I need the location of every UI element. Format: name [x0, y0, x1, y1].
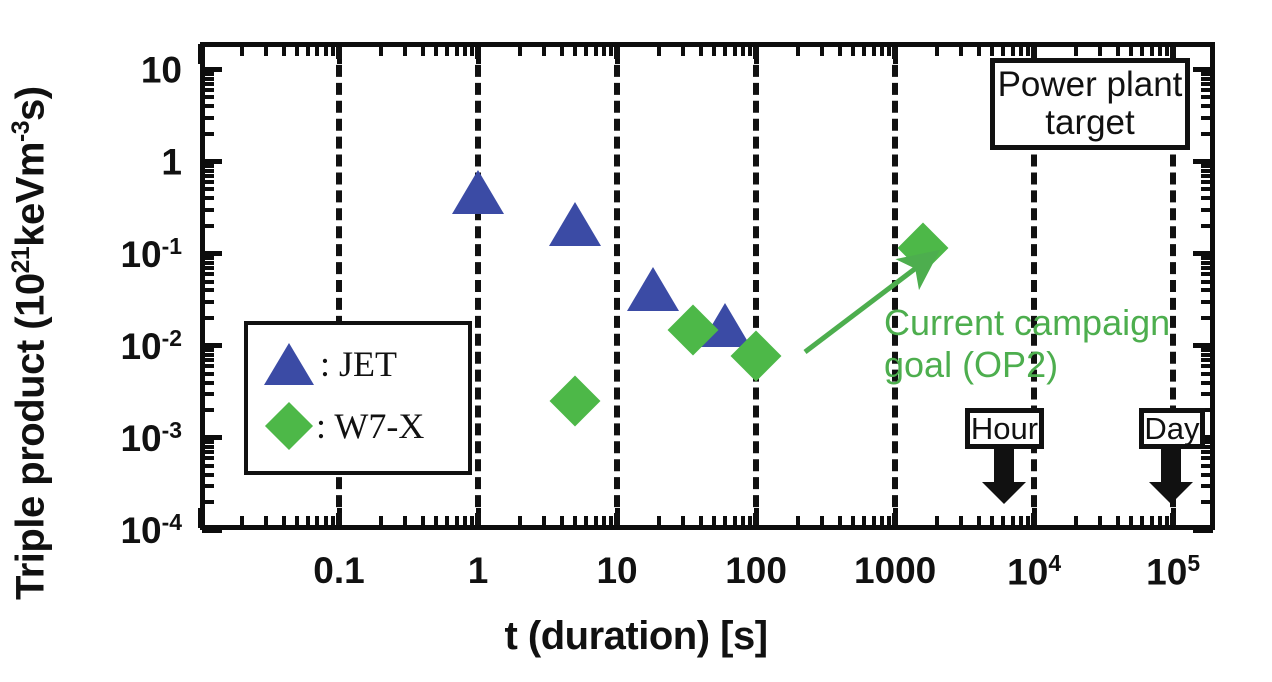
x-tick-base: 100: [725, 550, 787, 591]
x-minor-tick-top: [518, 44, 522, 56]
x-minor-tick-bottom: [560, 516, 564, 528]
x-minor-tick-bottom: [796, 516, 800, 528]
x-tick-base: 10: [1146, 551, 1187, 592]
y-minor-tick-left: [202, 272, 214, 276]
x-minor-tick-bottom: [1074, 516, 1078, 528]
x-minor-tick-bottom: [240, 516, 244, 528]
x-minor-tick-bottom: [1098, 516, 1102, 528]
x-minor-tick-top: [723, 44, 727, 56]
x-minor-tick-bottom: [862, 516, 866, 528]
y-minor-tick-left: [202, 104, 214, 108]
x-minor-tick-bottom: [1116, 516, 1120, 528]
y-minor-tick-left: [202, 484, 214, 488]
y-minor-tick-right: [1201, 473, 1213, 477]
y-minor-tick-left: [202, 164, 214, 168]
y-minor-tick-left: [202, 261, 214, 265]
x-minor-tick-bottom: [887, 516, 891, 528]
legend-entry-w7x: : W7-X: [264, 405, 424, 447]
x-minor-tick-bottom: [455, 516, 459, 528]
x-minor-tick-top: [542, 44, 546, 56]
legend-label-w7x: : W7-X: [316, 405, 424, 447]
y-minor-tick-left: [202, 372, 214, 376]
x-minor-tick-bottom: [699, 516, 703, 528]
y-tick-exponent: -3: [162, 417, 182, 443]
x-minor-tick-top: [315, 44, 319, 56]
y-minor-tick-left: [202, 280, 214, 284]
y-tick-base: 10: [120, 418, 161, 459]
y-tick-exponent: -2: [162, 325, 182, 351]
x-minor-tick-bottom: [463, 516, 467, 528]
y-minor-tick-right: [1201, 88, 1213, 92]
jet-marker-2: [627, 267, 679, 311]
x-minor-tick-bottom: [657, 516, 661, 528]
y-minor-tick-left: [202, 266, 214, 270]
y-tick-label-0: 10: [0, 51, 190, 88]
power-plant-target-line2: target: [1045, 104, 1135, 142]
y-tick-labels: 10110-110-210-310-4: [0, 0, 190, 682]
x-minor-tick-top: [264, 44, 268, 56]
x-minor-tick-bottom: [282, 516, 286, 528]
x-minor-tick-bottom: [741, 516, 745, 528]
y-major-tick-left: [202, 343, 222, 348]
y-minor-tick-right: [1201, 300, 1213, 304]
x-minor-tick-bottom: [712, 516, 716, 528]
y-major-tick-left: [202, 528, 222, 533]
x-minor-tick-top: [455, 44, 459, 56]
x-tick-base: 0.1: [313, 550, 364, 591]
y-tick-label-1: 1: [0, 143, 190, 180]
y-minor-tick-left: [202, 132, 214, 136]
x-tick-label-2: 10: [596, 552, 637, 589]
campaign-goal-line2: goal (OP2): [884, 344, 1170, 386]
y-major-tick-right: [1193, 67, 1213, 72]
x-minor-tick-top: [862, 44, 866, 56]
y-tick-base: 10: [120, 326, 161, 367]
x-minor-tick-bottom: [306, 516, 310, 528]
x-minor-tick-bottom: [1001, 516, 1005, 528]
x-minor-tick-top: [990, 44, 994, 56]
x-minor-tick-top: [1150, 44, 1154, 56]
y-minor-tick-left: [202, 392, 214, 396]
x-minor-tick-bottom: [403, 516, 407, 528]
campaign-goal-text: Current campaign goal (OP2): [884, 302, 1170, 386]
y-minor-tick-right: [1201, 224, 1213, 228]
x-minor-tick-top: [733, 44, 737, 56]
x-minor-tick-bottom: [959, 516, 963, 528]
y-minor-tick-left: [202, 169, 214, 173]
y-minor-tick-right: [1201, 104, 1213, 108]
jet-marker-0: [452, 170, 504, 214]
x-tick-exponent: 4: [1048, 550, 1061, 576]
y-minor-tick-right: [1201, 484, 1213, 488]
y-major-tick-right: [1193, 528, 1213, 533]
x-minor-tick-top: [609, 44, 613, 56]
y-minor-tick-left: [202, 353, 214, 357]
y-minor-tick-right: [1201, 164, 1213, 168]
y-minor-tick-right: [1201, 280, 1213, 284]
x-minor-tick-top: [796, 44, 800, 56]
x-minor-tick-bottom: [331, 516, 335, 528]
hour-box-label: Hour: [971, 412, 1038, 445]
x-minor-tick-bottom: [434, 516, 438, 528]
x-minor-tick-top: [935, 44, 939, 56]
y-tick-base: 10: [141, 49, 182, 90]
y-minor-tick-right: [1201, 82, 1213, 86]
x-minor-tick-bottom: [1158, 516, 1162, 528]
x-tick-base: 10: [596, 550, 637, 591]
x-minor-tick-bottom: [315, 516, 319, 528]
y-minor-tick-left: [202, 256, 214, 260]
y-minor-tick-left: [202, 456, 214, 460]
x-minor-tick-top: [594, 44, 598, 56]
x-minor-tick-top: [1140, 44, 1144, 56]
y-minor-tick-right: [1201, 187, 1213, 191]
y-minor-tick-right: [1201, 208, 1213, 212]
y-minor-tick-left: [202, 95, 214, 99]
x-minor-tick-bottom: [594, 516, 598, 528]
x-minor-tick-top: [741, 44, 745, 56]
y-major-tick-left: [202, 435, 222, 440]
y-minor-tick-right: [1201, 77, 1213, 81]
x-minor-tick-bottom: [295, 516, 299, 528]
y-tick-base: 1: [161, 141, 182, 182]
hour-box: Hour: [965, 408, 1044, 449]
x-minor-tick-top: [872, 44, 876, 56]
x-minor-tick-top: [1074, 44, 1078, 56]
x-minor-tick-top: [820, 44, 824, 56]
y-tick-base: 10: [120, 234, 161, 275]
x-tick-label-6: 105: [1146, 552, 1200, 590]
y-tick-base: 10: [120, 510, 161, 551]
y-minor-tick-left: [202, 224, 214, 228]
y-minor-tick-right: [1201, 456, 1213, 460]
y-minor-tick-left: [202, 174, 214, 178]
y-minor-tick-right: [1201, 464, 1213, 468]
x-minor-tick-top: [1001, 44, 1005, 56]
x-minor-tick-top: [880, 44, 884, 56]
x-minor-tick-bottom: [820, 516, 824, 528]
y-minor-tick-left: [202, 187, 214, 191]
x-minor-tick-top: [445, 44, 449, 56]
x-minor-tick-top: [657, 44, 661, 56]
y-minor-tick-left: [202, 440, 214, 444]
x-minor-tick-bottom: [880, 516, 884, 528]
x-tick-base: 10: [1007, 551, 1048, 592]
x-tick-label-5: 104: [1007, 552, 1061, 590]
y-minor-tick-left: [202, 180, 214, 184]
x-minor-tick-bottom: [723, 516, 727, 528]
x-tick-label-0: 0.1: [313, 552, 364, 589]
x-minor-tick-top: [887, 44, 891, 56]
y-minor-tick-right: [1201, 288, 1213, 292]
y-minor-tick-left: [202, 348, 214, 352]
y-minor-tick-left: [202, 450, 214, 454]
y-minor-tick-right: [1201, 316, 1213, 320]
x-minor-tick-top: [1158, 44, 1162, 56]
y-minor-tick-right: [1201, 132, 1213, 136]
x-minor-tick-bottom: [609, 516, 613, 528]
x-minor-tick-top: [699, 44, 703, 56]
y-minor-tick-left: [202, 408, 214, 412]
x-minor-tick-bottom: [851, 516, 855, 528]
x-minor-tick-bottom: [1019, 516, 1023, 528]
x-minor-tick-top: [421, 44, 425, 56]
y-minor-tick-right: [1201, 272, 1213, 276]
y-tick-exponent: -4: [162, 509, 182, 535]
y-minor-tick-right: [1201, 372, 1213, 376]
chart-root: Triple product (1021keVm-3s) t (duration…: [0, 0, 1272, 682]
x-minor-tick-top: [1098, 44, 1102, 56]
y-major-tick-left: [202, 159, 222, 164]
x-minor-tick-bottom: [518, 516, 522, 528]
y-minor-tick-left: [202, 196, 214, 200]
x-minor-tick-bottom: [1011, 516, 1015, 528]
x-minor-tick-top: [379, 44, 383, 56]
x-minor-tick-top: [959, 44, 963, 56]
gridline-decade-2: [614, 47, 620, 525]
y-minor-tick-right: [1201, 196, 1213, 200]
y-minor-tick-right: [1201, 95, 1213, 99]
y-major-tick-right: [1193, 159, 1213, 164]
y-minor-tick-right: [1201, 180, 1213, 184]
x-minor-tick-top: [324, 44, 328, 56]
x-minor-tick-top: [838, 44, 842, 56]
y-minor-tick-right: [1201, 381, 1213, 385]
y-tick-label-3: 10-2: [0, 327, 190, 365]
x-minor-tick-top: [403, 44, 407, 56]
x-minor-tick-bottom: [977, 516, 981, 528]
x-minor-tick-top: [434, 44, 438, 56]
x-minor-tick-top: [748, 44, 752, 56]
legend: : JET : W7-X: [244, 321, 472, 475]
x-minor-tick-top: [584, 44, 588, 56]
x-minor-tick-bottom: [935, 516, 939, 528]
x-minor-tick-top: [977, 44, 981, 56]
y-major-tick-right: [1193, 251, 1213, 256]
x-minor-tick-bottom: [264, 516, 268, 528]
x-major-tick-bottom: [198, 508, 203, 528]
y-minor-tick-left: [202, 381, 214, 385]
y-minor-tick-right: [1201, 450, 1213, 454]
y-major-tick-left: [202, 251, 222, 256]
x-tick-label-4: 1000: [854, 552, 936, 589]
x-minor-tick-top: [1165, 44, 1169, 56]
x-minor-tick-bottom: [573, 516, 577, 528]
x-minor-tick-bottom: [470, 516, 474, 528]
y-minor-tick-right: [1201, 266, 1213, 270]
y-minor-tick-right: [1201, 116, 1213, 120]
y-minor-tick-left: [202, 82, 214, 86]
x-minor-tick-bottom: [1140, 516, 1144, 528]
gridline-decade-1: [475, 47, 481, 525]
legend-entry-jet: : JET: [264, 343, 397, 385]
x-minor-tick-top: [306, 44, 310, 56]
y-minor-tick-left: [202, 364, 214, 368]
x-minor-tick-top: [1129, 44, 1133, 56]
y-minor-tick-right: [1201, 364, 1213, 368]
x-major-tick-top: [198, 44, 203, 64]
x-minor-tick-bottom: [1150, 516, 1154, 528]
x-tick-label-3: 100: [725, 552, 787, 589]
y-minor-tick-left: [202, 473, 214, 477]
legend-label-jet: : JET: [320, 343, 397, 385]
x-minor-tick-bottom: [1165, 516, 1169, 528]
y-tick-label-4: 10-3: [0, 419, 190, 457]
y-major-tick-right: [1193, 343, 1213, 348]
x-minor-tick-top: [1019, 44, 1023, 56]
x-minor-tick-bottom: [990, 516, 994, 528]
x-minor-tick-bottom: [542, 516, 546, 528]
x-minor-tick-bottom: [872, 516, 876, 528]
x-minor-tick-top: [331, 44, 335, 56]
y-minor-tick-right: [1201, 256, 1213, 260]
x-axis-title: t (duration) [s]: [0, 614, 1272, 659]
x-minor-tick-top: [240, 44, 244, 56]
day-box: Day: [1139, 408, 1205, 449]
x-tick-base: 1: [468, 550, 489, 591]
triangle-icon: [264, 343, 314, 385]
y-minor-tick-left: [202, 316, 214, 320]
x-minor-tick-top: [463, 44, 467, 56]
x-tick-exponent: 5: [1187, 550, 1200, 576]
y-minor-tick-right: [1201, 392, 1213, 396]
y-minor-tick-left: [202, 445, 214, 449]
x-minor-tick-bottom: [1129, 516, 1133, 528]
x-minor-tick-top: [573, 44, 577, 56]
y-tick-label-5: 10-4: [0, 511, 190, 549]
y-minor-tick-right: [1201, 72, 1213, 76]
x-minor-tick-bottom: [681, 516, 685, 528]
y-minor-tick-right: [1201, 174, 1213, 178]
x-minor-tick-top: [602, 44, 606, 56]
x-minor-tick-bottom: [733, 516, 737, 528]
x-minor-tick-bottom: [602, 516, 606, 528]
x-minor-tick-bottom: [838, 516, 842, 528]
x-minor-tick-bottom: [324, 516, 328, 528]
power-plant-target-box: Power plant target: [990, 58, 1190, 150]
x-minor-tick-top: [681, 44, 685, 56]
y-minor-tick-right: [1201, 348, 1213, 352]
x-minor-tick-bottom: [445, 516, 449, 528]
x-minor-tick-bottom: [379, 516, 383, 528]
x-minor-tick-top: [1116, 44, 1120, 56]
jet-marker-1: [549, 202, 601, 246]
y-minor-tick-left: [202, 77, 214, 81]
y-minor-tick-left: [202, 358, 214, 362]
y-minor-tick-left: [202, 72, 214, 76]
x-minor-tick-top: [1011, 44, 1015, 56]
y-minor-tick-right: [1201, 261, 1213, 265]
y-minor-tick-left: [202, 300, 214, 304]
y-major-tick-left: [202, 67, 222, 72]
x-minor-tick-top: [282, 44, 286, 56]
gridline-decade-3: [753, 47, 759, 525]
y-minor-tick-right: [1201, 500, 1213, 504]
x-tick-base: 1000: [854, 550, 936, 591]
y-minor-tick-left: [202, 208, 214, 212]
power-plant-target-line1: Power plant: [998, 66, 1183, 104]
x-minor-tick-top: [1026, 44, 1030, 56]
campaign-goal-line1: Current campaign: [884, 302, 1170, 344]
x-minor-tick-bottom: [748, 516, 752, 528]
y-minor-tick-left: [202, 288, 214, 292]
y-minor-tick-right: [1201, 169, 1213, 173]
x-minor-tick-top: [295, 44, 299, 56]
gridline-decade-4: [892, 47, 898, 525]
y-minor-tick-left: [202, 464, 214, 468]
x-minor-tick-bottom: [421, 516, 425, 528]
x-minor-tick-top: [560, 44, 564, 56]
y-tick-exponent: -1: [162, 233, 182, 259]
diamond-icon: [265, 402, 313, 450]
y-minor-tick-right: [1201, 358, 1213, 362]
y-minor-tick-left: [202, 116, 214, 120]
y-minor-tick-left: [202, 88, 214, 92]
y-minor-tick-left: [202, 500, 214, 504]
x-minor-tick-bottom: [1026, 516, 1030, 528]
x-minor-tick-top: [712, 44, 716, 56]
day-box-label: Day: [1144, 412, 1199, 445]
x-tick-label-1: 1: [468, 552, 489, 589]
y-tick-label-2: 10-1: [0, 235, 190, 273]
x-minor-tick-bottom: [584, 516, 588, 528]
x-minor-tick-top: [470, 44, 474, 56]
y-minor-tick-right: [1201, 353, 1213, 357]
x-minor-tick-top: [851, 44, 855, 56]
